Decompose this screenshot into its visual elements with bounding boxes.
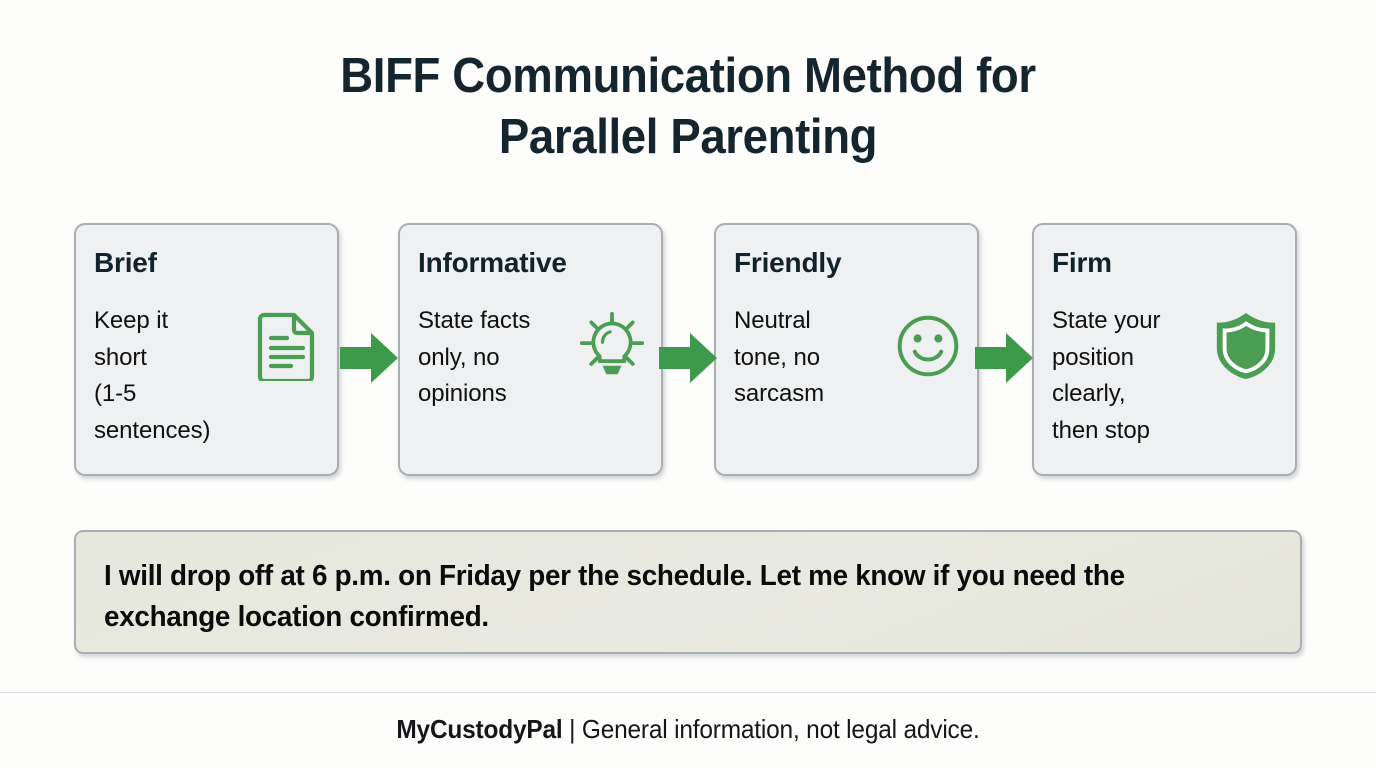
footer-divider	[0, 692, 1376, 693]
smiley-face-icon	[895, 311, 961, 381]
arrow-informative-to-friendly	[659, 330, 717, 386]
card-informative: Informative State facts only, no opinion…	[398, 223, 663, 476]
footer-brand: MyCustodyPal	[396, 714, 562, 744]
arrow-friendly-to-firm	[975, 330, 1033, 386]
card-friendly-heading: Friendly	[734, 247, 841, 279]
arrow-brief-to-informative	[340, 330, 398, 386]
page-title: BIFF Communication Method for Parallel P…	[48, 46, 1328, 168]
document-icon	[255, 311, 321, 381]
card-informative-body: State facts only, no opinions	[418, 303, 580, 413]
card-brief: Brief Keep it short (1-5 sentences)	[74, 223, 339, 476]
card-firm-heading: Firm	[1052, 247, 1112, 279]
card-brief-heading: Brief	[94, 247, 157, 279]
footer-disclaimer: | General information, not legal advice.	[563, 714, 980, 744]
card-informative-heading: Informative	[418, 247, 567, 279]
footer: MyCustodyPal | General information, not …	[41, 714, 1334, 745]
example-message-text: I will drop off at 6 p.m. on Friday per …	[104, 556, 1237, 638]
example-message-box: I will drop off at 6 p.m. on Friday per …	[74, 530, 1302, 654]
card-friendly: Friendly Neutral tone, no sarcasm	[714, 223, 979, 476]
card-brief-body: Keep it short (1-5 sentences)	[94, 303, 256, 449]
lightbulb-icon	[579, 311, 645, 381]
card-firm: Firm State your position clearly, then s…	[1032, 223, 1297, 476]
shield-icon	[1213, 311, 1279, 381]
card-friendly-body: Neutral tone, no sarcasm	[734, 303, 896, 413]
card-firm-body: State your position clearly, then stop	[1052, 303, 1214, 449]
